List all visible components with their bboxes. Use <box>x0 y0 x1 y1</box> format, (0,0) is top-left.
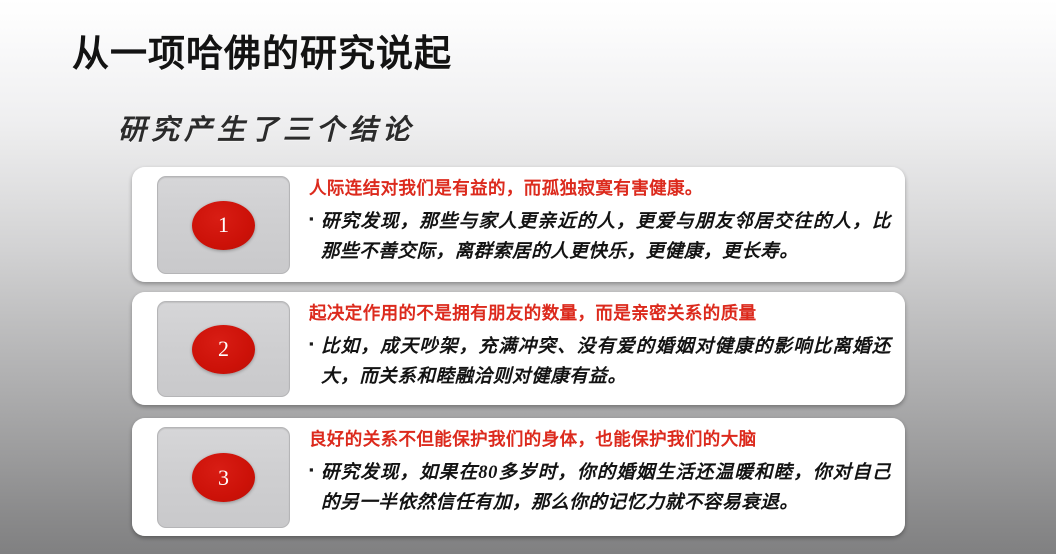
card-content-2: 起决定作用的不是拥有朋友的数量，而是亲密关系的质量 ▪ 比如，成天吵架，充满冲突… <box>309 300 891 393</box>
badge-container-1: 1 <box>157 176 290 274</box>
conclusion-card-3: 3 良好的关系不但能保护我们的身体，也能保护我们的大脑 ▪ 研究发现，如果在80… <box>132 418 905 536</box>
bullet-dot-icon: ▪ <box>309 333 321 393</box>
number-badge-3: 3 <box>192 453 255 502</box>
badge-container-2: 2 <box>157 301 290 397</box>
number-badge-1: 1 <box>192 201 255 250</box>
page-title: 从一项哈佛的研究说起 <box>72 34 452 75</box>
card-headline-3: 良好的关系不但能保护我们的身体，也能保护我们的大脑 <box>309 426 891 452</box>
card-content-1: 人际连结对我们是有益的，而孤独寂寞有害健康。 ▪ 研究发现，那些与家人更亲近的人… <box>309 175 891 268</box>
conclusion-card-2: 2 起决定作用的不是拥有朋友的数量，而是亲密关系的质量 ▪ 比如，成天吵架，充满… <box>132 292 905 405</box>
card-bullet-row-2: ▪ 比如，成天吵架，充满冲突、没有爱的婚姻对健康的影响比离婚还大，而关系和睦融洽… <box>309 333 891 393</box>
card-headline-1: 人际连结对我们是有益的，而孤独寂寞有害健康。 <box>309 175 891 201</box>
card-bullet-text-3: 研究发现，如果在80多岁时，你的婚姻生活还温暖和睦，你对自己的另一半依然信任有加… <box>321 459 891 519</box>
card-headline-2: 起决定作用的不是拥有朋友的数量，而是亲密关系的质量 <box>309 300 891 326</box>
page-subtitle: 研究产生了三个结论 <box>118 108 415 148</box>
card-bullet-text-1: 研究发现，那些与家人更亲近的人，更爱与朋友邻居交往的人，比那些不善交际，离群索居… <box>321 208 891 268</box>
card-bullet-text-2: 比如，成天吵架，充满冲突、没有爱的婚姻对健康的影响比离婚还大，而关系和睦融洽则对… <box>321 333 891 393</box>
bullet-dot-icon: ▪ <box>309 208 321 268</box>
number-badge-2: 2 <box>192 325 255 374</box>
card-bullet-row-3: ▪ 研究发现，如果在80多岁时，你的婚姻生活还温暖和睦，你对自己的另一半依然信任… <box>309 459 891 519</box>
card-content-3: 良好的关系不但能保护我们的身体，也能保护我们的大脑 ▪ 研究发现，如果在80多岁… <box>309 426 891 519</box>
card-bullet-row-1: ▪ 研究发现，那些与家人更亲近的人，更爱与朋友邻居交往的人，比那些不善交际，离群… <box>309 208 891 268</box>
bullet-dot-icon: ▪ <box>309 459 321 519</box>
slide-canvas: 从一项哈佛的研究说起 研究产生了三个结论 1 人际连结对我们是有益的，而孤独寂寞… <box>0 0 1056 554</box>
conclusion-card-1: 1 人际连结对我们是有益的，而孤独寂寞有害健康。 ▪ 研究发现，那些与家人更亲近… <box>132 167 905 282</box>
badge-container-3: 3 <box>157 427 290 528</box>
